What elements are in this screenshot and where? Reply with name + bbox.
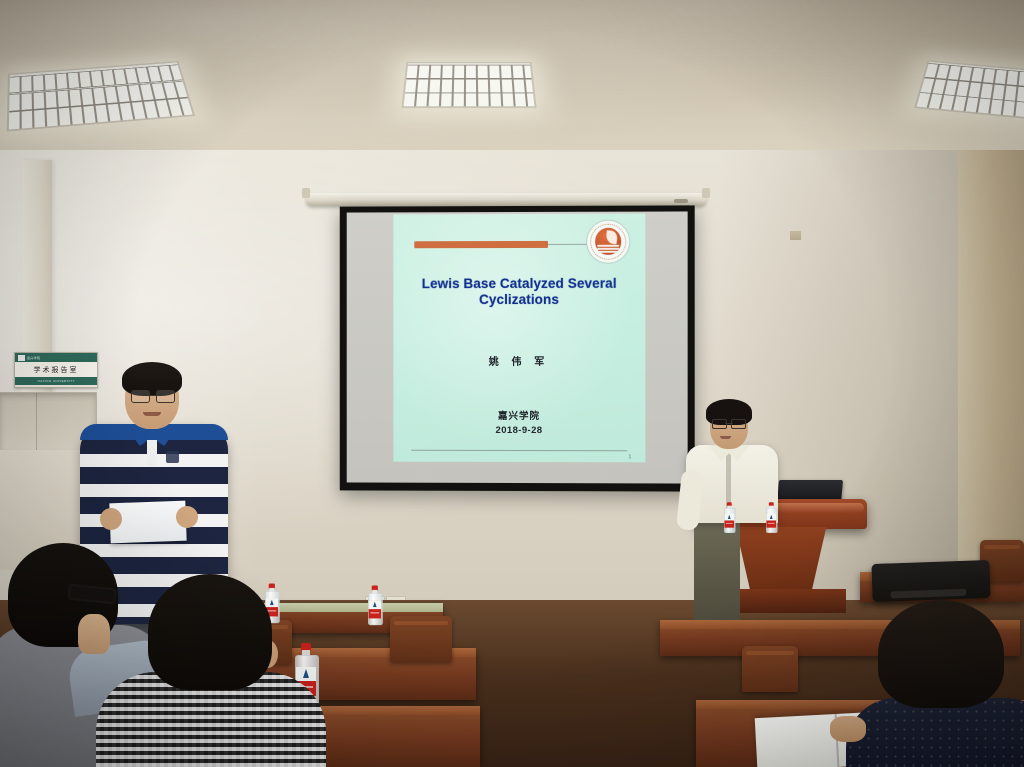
- room-name-plaque: 嘉兴学院 学术报告室 JIAXING UNIVERSITY: [14, 352, 98, 388]
- slide-accent-bar: [414, 241, 548, 248]
- host-mouth: [143, 412, 161, 416]
- lecture-room-photo: 嘉兴学院 学术报告室 JIAXING UNIVERSITY: [0, 0, 1024, 767]
- slide-organization: 嘉兴学院: [393, 408, 645, 422]
- shoulder-bag[interactable]: [871, 560, 990, 602]
- slide-date: 2018-9-28: [393, 425, 645, 436]
- host-hand-right: [176, 506, 198, 528]
- roller-bracket-right: [702, 188, 710, 198]
- speaker-mouth: [720, 436, 731, 439]
- audience3-hair: [878, 600, 1004, 708]
- audience1-hand: [78, 614, 110, 654]
- university-logo-icon: [586, 220, 630, 264]
- roller-knob[interactable]: [674, 199, 688, 203]
- logo-sail-shape: [606, 230, 618, 244]
- host-shirt-logo-icon: [166, 451, 179, 463]
- plaque-footer-text: JIAXING UNIVERSITY: [15, 377, 97, 385]
- slide-page-number: 1: [628, 454, 631, 460]
- projector-screen-roller[interactable]: [306, 193, 706, 206]
- speaker-trousers: [694, 520, 740, 620]
- projection-screen: Lewis Base Catalyzed Several Cyclization…: [340, 205, 695, 491]
- speaker-glasses-icon: [712, 419, 746, 427]
- chair-mid-left[interactable]: [390, 616, 452, 662]
- audience3-shirt: [846, 698, 1024, 767]
- presentation-slide: Lewis Base Catalyzed Several Cyclization…: [393, 214, 645, 463]
- ceiling-light-center: [401, 62, 536, 108]
- water-bottle-podium-left[interactable]: [724, 502, 735, 532]
- water-bottle-table-2[interactable]: [368, 586, 382, 624]
- host-hand-left: [100, 508, 122, 530]
- audience3-hand: [830, 716, 866, 742]
- roller-bracket-left: [302, 188, 310, 198]
- plaque-room-label: 学术报告室: [15, 362, 97, 377]
- plaque-header-text: 嘉兴学院: [27, 356, 40, 360]
- screen-surface: Lewis Base Catalyzed Several Cyclization…: [347, 211, 688, 483]
- plaque-logo-icon: [18, 355, 25, 361]
- bag-strap: [890, 589, 966, 599]
- water-bottle-podium-right[interactable]: [766, 502, 777, 532]
- slide-title: Lewis Base Catalyzed Several Cyclization…: [407, 276, 631, 308]
- host-glasses-icon: [131, 390, 175, 401]
- audience2-hair: [148, 574, 272, 690]
- chair-right-1[interactable]: [742, 646, 798, 692]
- host-placket: [147, 440, 157, 466]
- wall-fixture-mark: [790, 231, 801, 240]
- slide-presenter-name: 姚 伟 军: [393, 353, 645, 368]
